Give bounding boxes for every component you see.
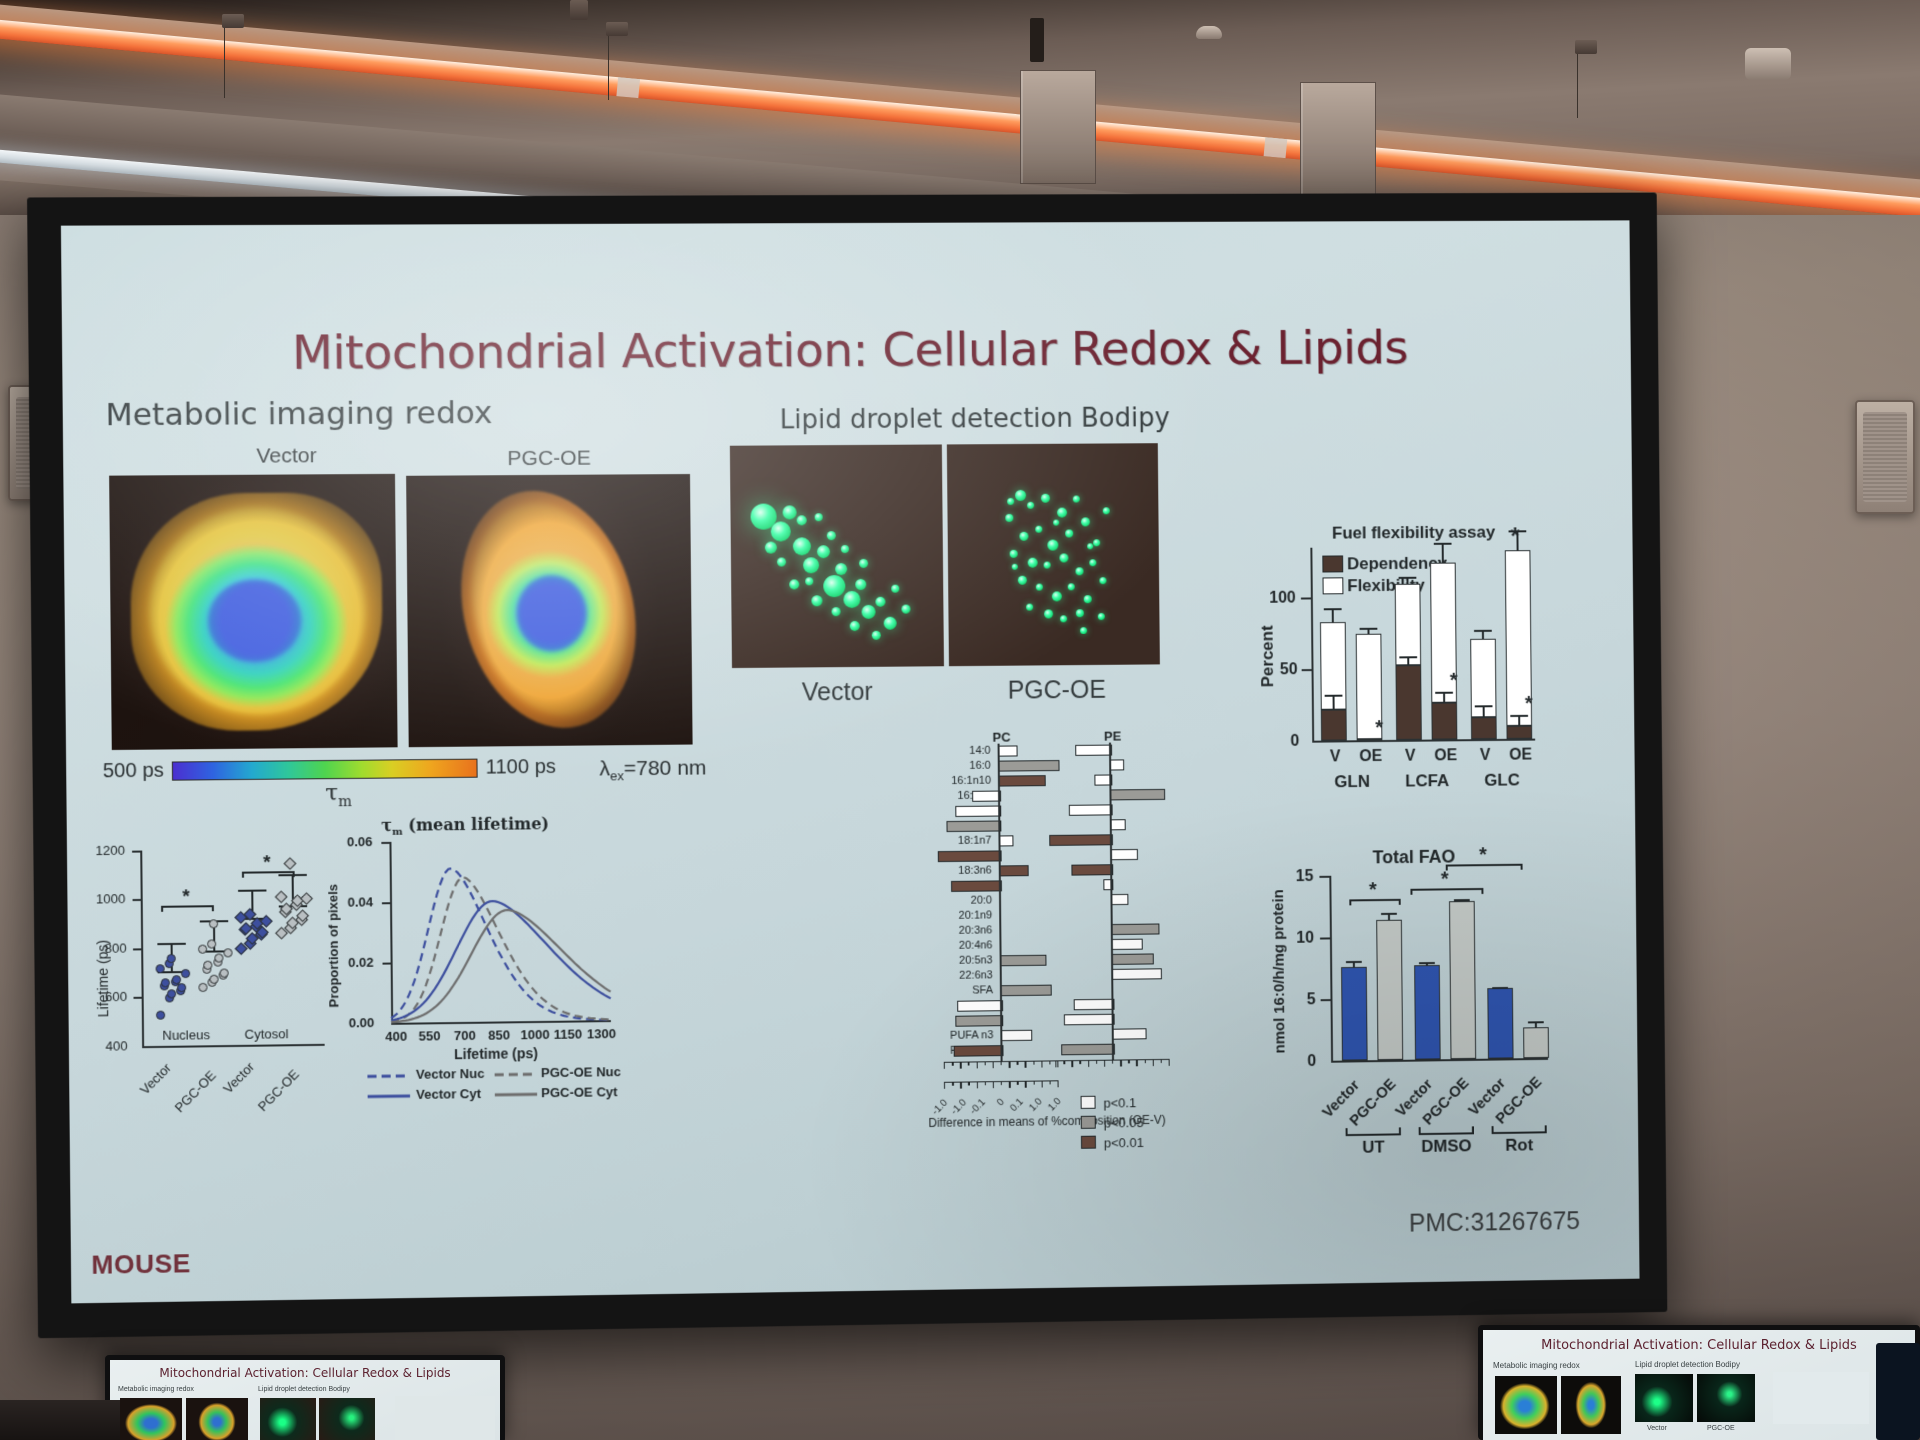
lipid-bar-pe (1110, 789, 1165, 801)
hist-legend-0: Vector Nuc (416, 1066, 485, 1082)
lipid-xticks: -1.0-1.0-0.100.11.01.0 (833, 728, 1211, 732)
scatter-point (214, 954, 223, 963)
lipid-droplet (1087, 543, 1093, 549)
histogram-curve (390, 900, 611, 1021)
hanging-speaker-2 (1300, 82, 1376, 196)
hist-xtick-550: 550 (419, 1028, 441, 1043)
lipid-bar-pe (1111, 894, 1128, 905)
lipid-bar-pc (999, 745, 1018, 756)
histogram-curve (390, 909, 611, 1022)
lipid-bar-pe (1111, 849, 1138, 860)
fuel-bar-dependency (1431, 702, 1457, 739)
mouse-tag: MOUSE (91, 1248, 191, 1281)
hist-ytick-004: 0.04 (347, 894, 373, 909)
lipid-rail-tick (1169, 1059, 1170, 1066)
lipid-droplet (841, 545, 849, 553)
fuel-bar-dependency (1357, 739, 1383, 741)
lipid-bars-pe (833, 728, 1211, 732)
fao-errorcap (1346, 961, 1362, 963)
lipid-category-label: 16:1n7 (833, 790, 991, 804)
fuel-errorcap (1509, 530, 1527, 532)
fuel-ytick-50: 50 (1280, 661, 1298, 679)
fao-ylabel: nmol 16:0/h/mg protein (1270, 889, 1288, 1053)
lipid-droplet (1012, 564, 1018, 570)
pmc-reference: PMC:31267675 (1409, 1207, 1580, 1238)
scatter-point (275, 890, 288, 903)
mini-right-label-pgcoe: PGC-OE (1707, 1425, 1735, 1432)
lipid-droplet (1084, 595, 1092, 603)
lipid-bar-pc (1001, 985, 1052, 997)
lipid-bar-pe (1050, 834, 1113, 846)
lipid-bar-pe (1113, 1028, 1147, 1039)
bodipy-label-pgcoe: PGC-OE (977, 676, 1136, 706)
lipid-legend-1: p<0.05 (1104, 1115, 1144, 1131)
fuel-errorcap (1360, 627, 1378, 629)
lipid-droplet (1099, 577, 1106, 584)
fuel-group-label: LCFA (1401, 771, 1452, 791)
lipid-bar-pc (999, 775, 1046, 786)
fuel-legend-swatch-dependency (1322, 555, 1343, 572)
confidence-monitor-left: Mitochondrial Activation: Cellular Redox… (105, 1355, 505, 1440)
fao-errorcap (1492, 987, 1508, 989)
mini-right-label-vector: Vector (1647, 1425, 1667, 1432)
lipid-droplet (1007, 498, 1014, 505)
slide-content: Mitochondrial Activation: Cellular Redox… (61, 220, 1640, 1303)
fuel-errorcap (1325, 694, 1343, 696)
fuel-errorcap (1474, 629, 1492, 631)
lipid-droplet (1026, 604, 1033, 611)
fao-ytick-15: 15 (1296, 868, 1314, 886)
fuel-bar-dependency (1506, 725, 1532, 739)
lipid-bar-pc (938, 850, 1002, 862)
scatter-point (156, 1011, 165, 1020)
scatter-point (156, 964, 165, 973)
hanging-speaker-1 (1020, 70, 1096, 184)
lipid-droplet (1080, 627, 1087, 634)
scatter-ytick-600: 600 (105, 989, 127, 1004)
lipid-droplet (891, 585, 899, 593)
scatter-star-nucleus: * (182, 892, 190, 902)
lipid-droplet (1081, 517, 1090, 526)
scatter-point (208, 920, 217, 929)
lipid-droplet (1059, 553, 1068, 562)
scatter-point (284, 857, 297, 870)
lipid-category-label: 16:1n10 (833, 775, 991, 789)
mini-left-title: Mitochondrial Activation: Cellular Redox… (110, 1366, 500, 1380)
lipid-legend-swatch-1 (1081, 1116, 1096, 1129)
lipid-bar-pe (1062, 1044, 1115, 1056)
fao-bar (1523, 1027, 1549, 1058)
fao-ytick-5: 5 (1307, 991, 1316, 1009)
lipid-legend-2: p<0.01 (1104, 1135, 1144, 1151)
lipid-category-label: 18:1n7 (834, 835, 992, 849)
fao-group-bracket-tick (1472, 1126, 1474, 1133)
fuel-group-label: GLC (1476, 770, 1527, 790)
fao-group-bracket-tick (1419, 1127, 1421, 1134)
projected-slide: Mitochondrial Activation: Cellular Redox… (61, 220, 1640, 1303)
fuel-errorcap (1399, 577, 1417, 579)
fuel-xtick: V (1473, 747, 1497, 765)
fuel-ylabel: Percent (1258, 625, 1278, 687)
hist-legend-3: PGC-OE Cyt (541, 1084, 617, 1100)
lipid-droplet (884, 617, 897, 630)
lipid-droplet (1041, 494, 1050, 503)
fuel-star: * (1450, 676, 1458, 686)
hist-ytick-002: 0.02 (348, 955, 374, 970)
fuel-star: * (1375, 723, 1383, 733)
scatter-point (198, 944, 207, 953)
lipid-droplet (797, 515, 807, 525)
fao-star-ut: * (1369, 885, 1377, 895)
fao-errorcap (1454, 899, 1470, 901)
section-header-metabolic: Metabolic imaging redox (105, 395, 492, 433)
scatter-ytick-1200: 1200 (95, 843, 125, 858)
lecture-hall-photo: Mitochondrial Activation: Cellular Redox… (0, 0, 1920, 1440)
scatter-point (207, 939, 216, 948)
excitation-wavelength: λex=780 nm (599, 756, 706, 783)
podium-shadow (0, 1400, 120, 1440)
chart-lifetime-scatter: Lifetime (ps) 1200 1000 800 600 400 Nucl… (87, 828, 333, 1123)
projector-mount (1745, 48, 1791, 80)
lipid-rail-tick (1058, 1080, 1059, 1087)
fuel-errorbar (1333, 694, 1335, 709)
lipid-bar-pe (1069, 804, 1113, 815)
fao-errorcap (1381, 913, 1397, 915)
lipid-category-label: 18:3n6 (834, 865, 992, 879)
confidence-monitor-right: Mitochondrial Activation: Cellular Redox… (1478, 1325, 1920, 1440)
lipid-droplet (1057, 508, 1067, 518)
fao-bar (1487, 988, 1513, 1058)
lipid-droplet (862, 605, 876, 619)
fao-group-bracket-tick (1399, 1127, 1401, 1134)
lipid-droplet (1044, 562, 1051, 569)
lipid-category-label: 14:0 (833, 745, 991, 758)
lipid-droplet (1073, 496, 1080, 503)
fao-errorcap (1528, 1021, 1544, 1023)
histogram-xlabel: Lifetime (ps) (454, 1045, 538, 1062)
scatter-point (181, 969, 190, 978)
lipid-bar-pe (1112, 923, 1160, 935)
scatter-point (209, 974, 218, 983)
hist-xtick-850: 850 (488, 1027, 510, 1042)
lipid-droplet (805, 577, 813, 585)
fuel-errorcap (1324, 608, 1342, 610)
fao-group-label: DMSO (1417, 1136, 1476, 1157)
fuel-xticks: VOEVOEVOE (1249, 518, 1575, 520)
hist-legend-swatch-1 (493, 1069, 539, 1080)
fao-bar (1449, 901, 1476, 1059)
scatter-point (198, 983, 207, 992)
lipid-category-label: 20:3n6 (835, 924, 993, 938)
fuel-errorbar (1516, 530, 1518, 551)
mini-right-section-1: Lipid droplet detection Bodipy (1635, 1360, 1740, 1369)
tau-m-symbol: τm (325, 780, 352, 810)
mini-right-section-0: Metabolic imaging redox (1493, 1361, 1580, 1370)
bodipy-image-pgcoe (947, 443, 1160, 666)
fao-bar (1376, 919, 1403, 1060)
fao-bar (1414, 964, 1441, 1059)
lipid-droplet (1098, 613, 1105, 620)
scatter-points (87, 828, 331, 831)
fao-star-dmso: * (1441, 874, 1449, 884)
scatter-xtick-0: Vector (121, 1060, 175, 1114)
fao-errorcap (1419, 962, 1435, 964)
lipid-droplet (811, 595, 822, 606)
lipid-category-label: 20:0 (834, 894, 992, 908)
histogram-curve (390, 876, 611, 1023)
fuel-title: Fuel flexibility assay (1332, 523, 1495, 544)
hist-xtick-700: 700 (454, 1028, 476, 1043)
hist-legend-swatch-3 (493, 1089, 539, 1100)
scatter-point (223, 949, 232, 958)
fuel-ytick-100: 100 (1269, 590, 1296, 608)
lipid-bar-pc (999, 835, 1013, 846)
lipid-droplet (815, 513, 823, 521)
lipid-droplet (803, 557, 819, 573)
bodipy-label-vector: Vector (762, 678, 912, 708)
lipid-droplet (771, 521, 791, 541)
lipid-droplet (793, 537, 811, 555)
flim-label-pgcoe: PGC-OE (468, 446, 629, 471)
fao-group-bracket-tick (1492, 1126, 1494, 1133)
fuel-xtick: OE (1434, 747, 1458, 765)
hist-ytick-006: 0.06 (347, 834, 373, 849)
lipid-droplet (1027, 502, 1034, 509)
lipid-legend-0: p<0.1 (1103, 1095, 1136, 1110)
colorbar-min-label: 500 ps (103, 760, 164, 784)
fuel-legend-swatch-flexibility (1323, 577, 1344, 594)
scatter-ytick-1000: 1000 (96, 891, 126, 906)
lipid-category-label: 22:6n3 (835, 969, 993, 983)
fuel-errorcap (1399, 657, 1417, 659)
wall-speaker-right (1855, 400, 1915, 514)
scatter-point (166, 990, 175, 999)
lipid-droplet (1019, 532, 1028, 541)
fuel-xtick: OE (1359, 748, 1383, 766)
lipid-bar-pc (999, 760, 1060, 772)
lipid-droplet (1010, 550, 1018, 558)
chart-lifetime-histogram: τm (mean lifetime) Proportion of pixels … (320, 813, 626, 1128)
fuel-bar-dependency (1395, 666, 1421, 740)
lipid-droplet (1089, 559, 1096, 566)
lipid-droplet (859, 559, 868, 568)
fao-group-label: UT (1344, 1137, 1403, 1158)
scatter-xtick-2: Vector (204, 1059, 257, 1113)
lipid-droplet (872, 631, 881, 640)
scatter-point (219, 968, 228, 977)
lipid-panel-pc: PC (992, 730, 1010, 745)
fao-group-bracket (1346, 1133, 1401, 1136)
fuel-bar-flexibility (1395, 584, 1421, 666)
lipid-droplet (832, 607, 841, 616)
fao-title: Total FAO (1373, 847, 1456, 869)
flim-image-vector (109, 474, 397, 750)
hist-xtick-1300: 1300 (587, 1026, 616, 1041)
lipid-droplet (1015, 490, 1026, 501)
lipid-droplet (1076, 609, 1084, 617)
lipid-bar-pc (951, 880, 1002, 892)
lipid-category-label: 20:1n9 (834, 909, 992, 923)
lipid-bar-pc (957, 1000, 1003, 1012)
histogram-curve (390, 867, 611, 1023)
hist-legend-2: Vector Cyt (416, 1086, 481, 1102)
scatter-point (166, 954, 175, 963)
lipid-droplet (1060, 615, 1067, 622)
fao-group-bracket-tick (1346, 1128, 1348, 1135)
hist-ytick-000: 0.00 (349, 1015, 375, 1030)
fuel-star: * (1525, 699, 1533, 709)
fao-ytick-10: 10 (1296, 930, 1314, 948)
colorbar-max-label: 1100 ps (486, 756, 556, 780)
lipid-bar-pe (1112, 939, 1143, 950)
fao-ytick-0: 0 (1307, 1053, 1316, 1071)
fao-star-rot: * (1479, 850, 1487, 860)
lipid-bar-pe (1110, 759, 1124, 770)
lipid-droplet (1093, 539, 1100, 546)
lipid-bar-pe (1111, 819, 1126, 830)
lipid-droplet (1068, 583, 1075, 590)
scatter-point (172, 975, 181, 984)
lipid-bar-pc (1001, 955, 1047, 967)
lipid-legend-swatch-2 (1081, 1136, 1096, 1149)
lipid-category-labels: 14:016:016:1n1016:1n718:018:1n918:1n718:… (833, 728, 1211, 732)
scatter-ytick-400: 400 (105, 1038, 127, 1053)
fao-group-bracket (1419, 1132, 1474, 1135)
lipid-droplet (823, 575, 845, 597)
scatter-ytick-800: 800 (104, 940, 126, 955)
fao-bar (1341, 967, 1368, 1061)
lipid-droplet (850, 621, 860, 631)
section-header-bodipy: Lipid droplet detection Bodipy (780, 403, 1170, 435)
fao-group-bracket (1492, 1131, 1547, 1134)
lipid-droplet (835, 563, 847, 575)
mini-right-title: Mitochondrial Activation: Cellular Redox… (1483, 1338, 1915, 1353)
lipid-bar-pc (1001, 1030, 1032, 1041)
lipid-droplet (855, 579, 866, 590)
chart-fuel-flexibility: Fuel flexibility assay * Percent 100 50 … (1249, 518, 1577, 819)
fuel-bar-dependency (1471, 717, 1497, 739)
fuel-ytick-0: 0 (1290, 733, 1299, 751)
lipid-droplet (1103, 507, 1110, 514)
histogram-ylabel: Proportion of pixels (325, 884, 341, 1008)
fuel-errorcap (1434, 542, 1452, 544)
lipid-bar-pe (1071, 864, 1113, 875)
lipid-droplet (1005, 514, 1013, 522)
lipid-droplet (817, 545, 830, 558)
fuel-bars: *** (1249, 518, 1575, 520)
fuel-bar-dependency (1321, 709, 1347, 740)
lipid-bar-pe (1075, 745, 1112, 756)
lipid-droplet (901, 605, 910, 614)
scatter-group-nucleus: Nucleus (162, 1027, 210, 1043)
lipid-droplet (1035, 526, 1042, 533)
flim-image-pgcoe (406, 474, 692, 747)
lipid-bar-pc (972, 791, 1001, 802)
fao-group-label: Rot (1490, 1135, 1549, 1156)
hist-legend-swatch-0 (365, 1071, 412, 1082)
mini-left-section-0: Metabolic imaging redox (118, 1386, 194, 1393)
lipid-category-label: PUFA n3 (836, 1029, 994, 1043)
lipid-bar-pe (1112, 953, 1154, 964)
lipid-droplet (1028, 558, 1038, 568)
scatter-group-cytosol: Cytosol (244, 1026, 288, 1042)
lipid-bar-pc (956, 806, 1002, 817)
hist-xtick-400: 400 (385, 1029, 407, 1044)
hist-legend-swatch-2 (366, 1091, 413, 1102)
fuel-xtick: V (1398, 748, 1422, 766)
bodipy-image-vector (730, 444, 944, 668)
scatter-star-cytosol: * (263, 858, 271, 868)
smoke-detector (1196, 26, 1222, 39)
hist-xtick-1000: 1000 (520, 1027, 549, 1042)
fuel-errorcap (1475, 705, 1493, 707)
fuel-group-label: GLN (1326, 772, 1378, 792)
fuel-errorbar (1442, 542, 1444, 563)
lipid-bar-pc (955, 1015, 1003, 1027)
fuel-xtick: V (1323, 748, 1347, 766)
chart-total-fao: Total FAO nmol 16:0/h/mg protein 15 10 5… (1262, 845, 1590, 1157)
chart-lipid-composition: PC PE 14:016:016:1n1016:1n718:018:1n918:… (833, 728, 1215, 1122)
lipid-droplet (843, 591, 860, 608)
fuel-xtick: OE (1509, 747, 1533, 765)
page-title: Mitochondrial Activation: Cellular Redox… (62, 319, 1631, 382)
hist-xtick-1150: 1150 (554, 1026, 583, 1041)
projection-screen: Mitochondrial Activation: Cellular Redox… (27, 193, 1667, 1339)
lipid-droplet (765, 542, 777, 554)
lipid-bar-pc (946, 820, 1001, 832)
lipid-droplet (827, 531, 836, 540)
hist-legend-1: PGC-OE Nuc (541, 1064, 621, 1080)
fuel-errorcap (1435, 692, 1453, 694)
lipid-category-label: 20:4n6 (835, 939, 993, 953)
flim-label-vector: Vector (205, 444, 367, 469)
lipid-droplet (777, 557, 786, 566)
lipid-droplet (783, 505, 797, 519)
lipid-droplet (789, 579, 799, 589)
mini-left-section-1: Lipid droplet detection Bodipy (258, 1386, 350, 1393)
lipid-bar-pc (954, 1045, 1004, 1057)
monitor-bezel-right (1876, 1343, 1920, 1440)
lipid-bars-pc (833, 728, 1211, 732)
histogram-title: τm (mean lifetime) (381, 814, 549, 838)
lipid-droplet (1053, 520, 1059, 526)
lipid-bar-pc (1000, 865, 1029, 876)
lipid-bar-pe (1073, 999, 1114, 1010)
fuel-errorcap (1510, 715, 1528, 717)
lipid-droplet (1018, 576, 1027, 585)
lipid-droplet (1036, 584, 1043, 591)
lipid-droplet (1052, 591, 1062, 601)
lipid-droplet (1044, 609, 1053, 618)
fuel-group-labels: GLNLCFAGLC (1249, 518, 1575, 520)
ceiling (0, 0, 1920, 215)
lipid-category-label: 16:0 (833, 760, 991, 774)
fao-group-bracket-tick (1545, 1125, 1547, 1132)
lipid-legend-swatch-0 (1081, 1096, 1096, 1109)
lifetime-colorbar (172, 759, 478, 781)
lipid-droplet (875, 597, 885, 607)
lipid-bar-pe (1112, 968, 1161, 980)
lipid-category-label: SFA (835, 984, 993, 998)
lipid-droplet (1047, 540, 1058, 551)
lipid-bar-pe (1064, 1014, 1115, 1026)
lipid-panel-pe: PE (1104, 729, 1121, 744)
lipid-category-label: 20:5n3 (835, 954, 993, 968)
lipid-droplet (1076, 567, 1084, 575)
lipid-droplet (1065, 529, 1073, 537)
